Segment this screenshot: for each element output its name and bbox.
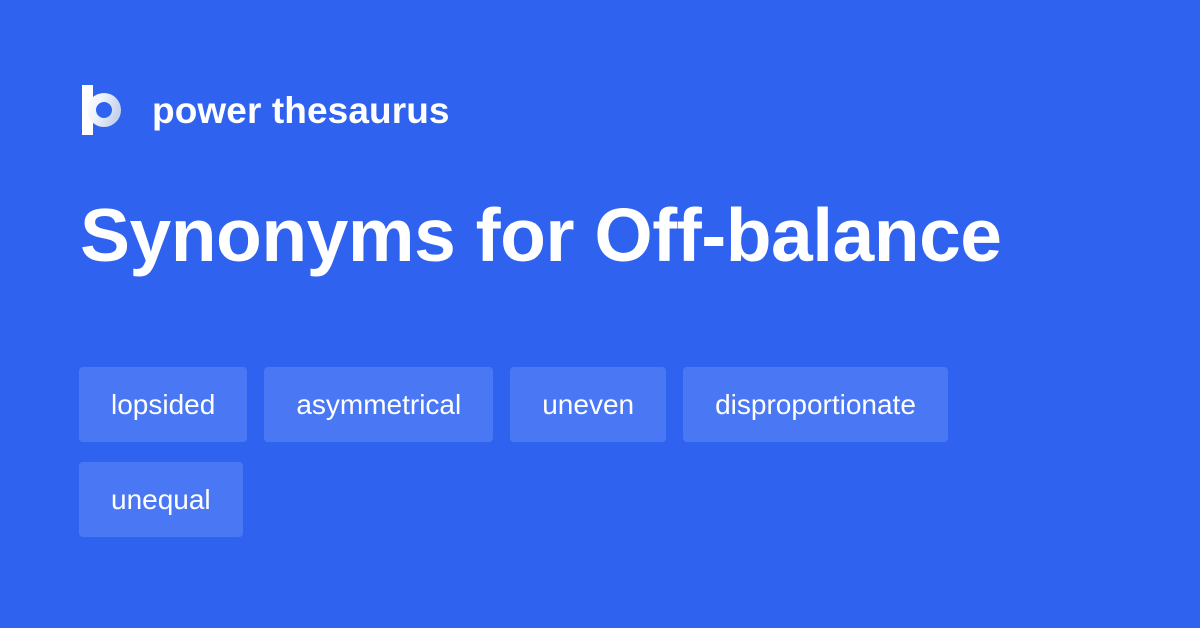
social-share-card: power thesaurus Synonyms for Off-balance…	[0, 0, 1200, 628]
synonym-chip[interactable]: unequal	[79, 462, 243, 537]
brand-lockup[interactable]: power thesaurus	[80, 82, 450, 138]
power-thesaurus-b-logo-icon	[80, 84, 130, 136]
synonym-chip[interactable]: asymmetrical	[264, 367, 493, 442]
synonym-chip-list: lopsided asymmetrical uneven disproporti…	[79, 367, 1124, 537]
page-title: Synonyms for Off-balance	[80, 196, 1120, 276]
synonym-chip[interactable]: uneven	[510, 367, 666, 442]
brand-name: power thesaurus	[152, 92, 450, 129]
synonym-chip[interactable]: lopsided	[79, 367, 247, 442]
synonym-chip[interactable]: disproportionate	[683, 367, 948, 442]
